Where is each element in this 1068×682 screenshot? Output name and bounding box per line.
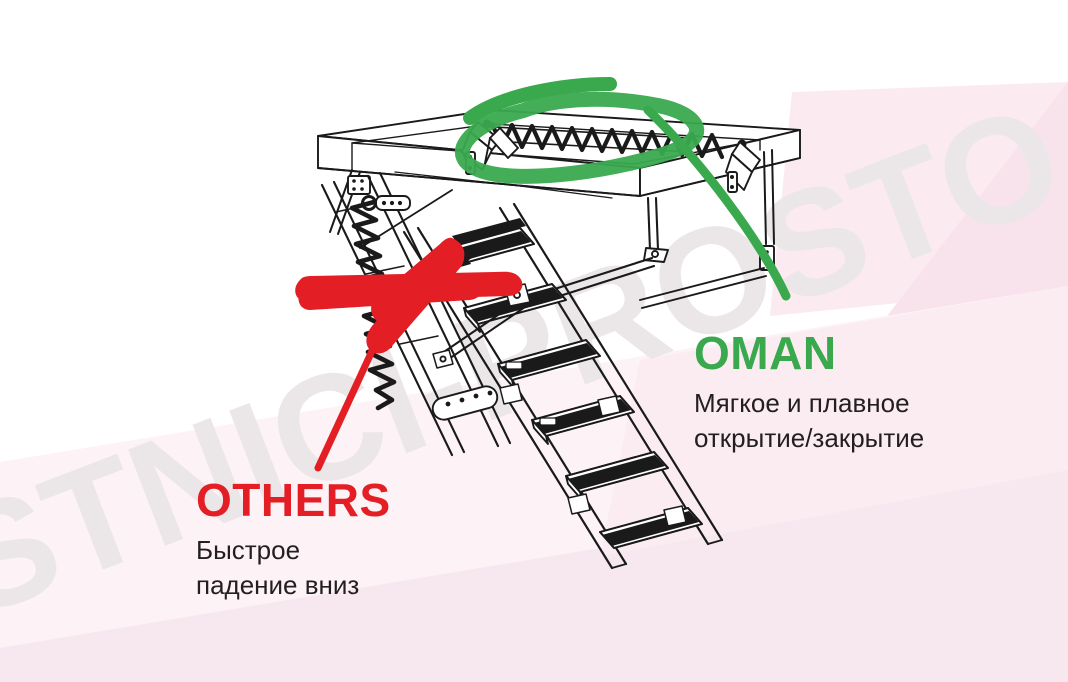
illustration-canvas: LESTNICI-PROSTO.RU <box>0 0 1068 682</box>
others-subtitle-line-1: Быстрое <box>196 533 391 568</box>
oman-subtitle-line-2: открытие/закрытие <box>694 421 924 456</box>
oman-title: OMAN <box>694 330 924 376</box>
oman-subtitle-line-1: Мягкое и плавное <box>694 386 924 421</box>
others-title: OTHERS <box>196 477 391 523</box>
others-label-block: OTHERS Быстрое падение вниз <box>196 477 391 603</box>
others-subtitle-line-2: падение вниз <box>196 568 391 603</box>
oman-label-block: OMAN Мягкое и плавное открытие/закрытие <box>694 330 924 456</box>
labels-layer: OMAN Мягкое и плавное открытие/закрытие … <box>0 0 1068 682</box>
